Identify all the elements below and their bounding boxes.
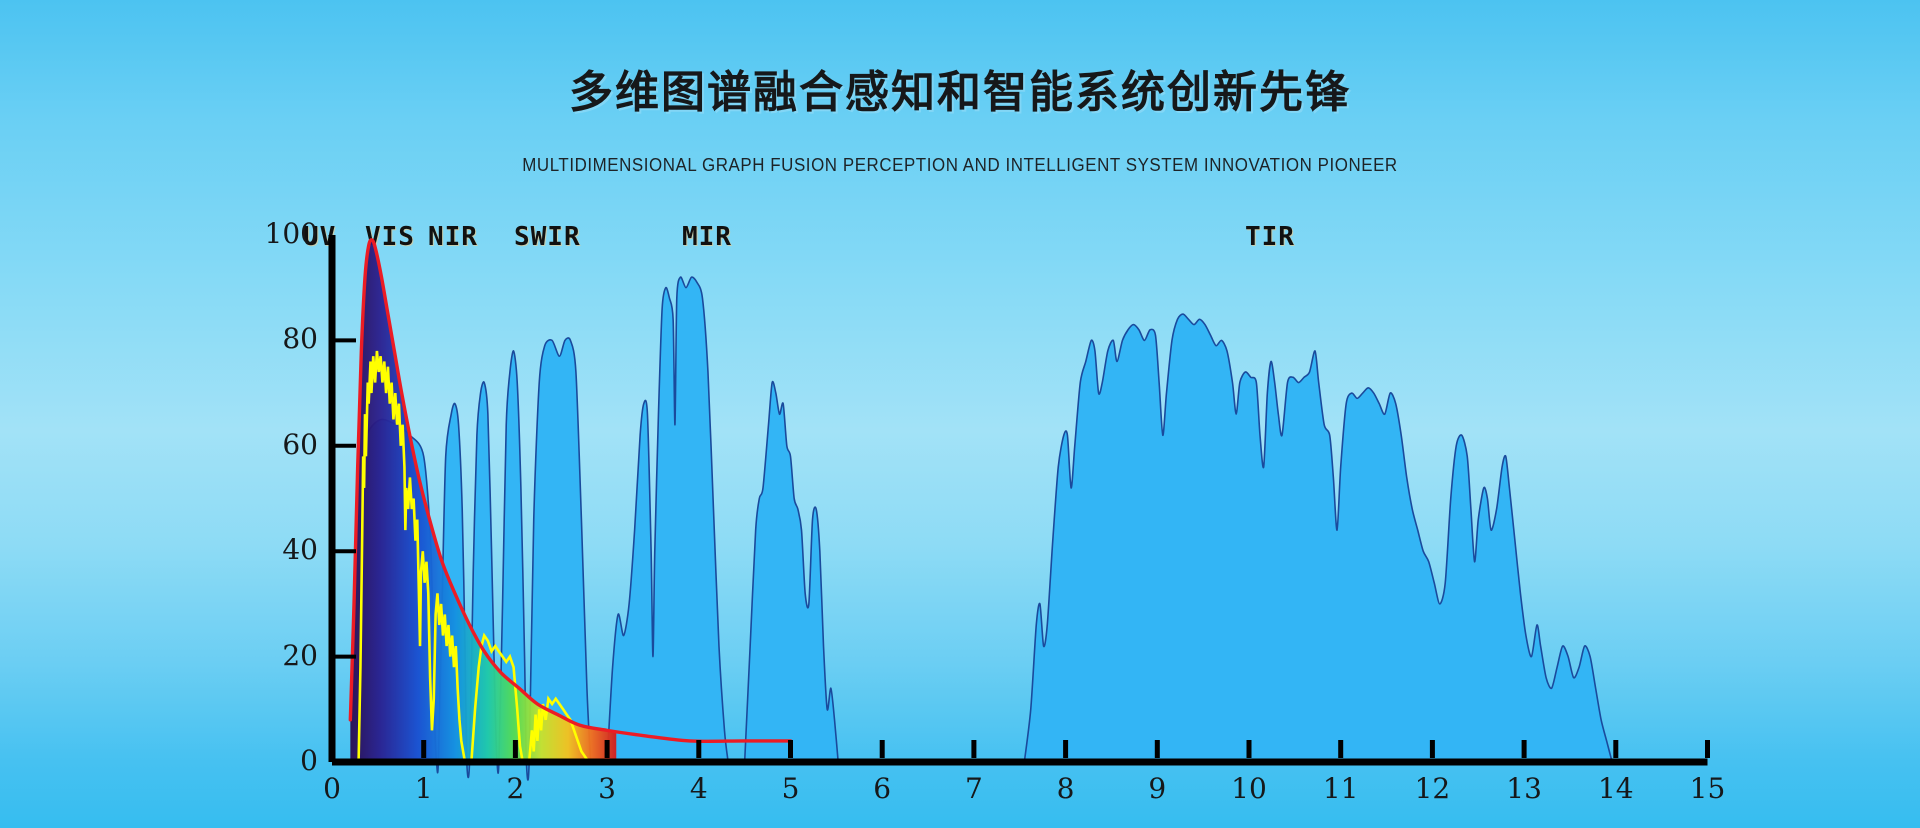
x-tick-label: 4 bbox=[669, 772, 729, 805]
x-tick-label: 9 bbox=[1127, 772, 1187, 805]
x-tick-label: 10 bbox=[1219, 772, 1279, 805]
y-tick-label: 60 bbox=[248, 428, 318, 461]
spectrum-chart bbox=[0, 0, 1920, 828]
x-tick-label: 6 bbox=[852, 772, 912, 805]
y-tick-label: 100 bbox=[248, 217, 318, 250]
y-tick-label: 80 bbox=[248, 322, 318, 355]
y-tick-label: 40 bbox=[248, 533, 318, 566]
x-tick-label: 3 bbox=[577, 772, 637, 805]
poster-canvas: 多维图谱融合感知和智能系统创新先锋 MULTIDIMENSIONAL GRAPH… bbox=[0, 0, 1920, 828]
x-tick-label: 12 bbox=[1402, 772, 1462, 805]
transmittance-window bbox=[1024, 314, 1612, 762]
x-tick-label: 0 bbox=[302, 772, 362, 805]
x-tick-label: 5 bbox=[761, 772, 821, 805]
x-tick-label: 2 bbox=[485, 772, 545, 805]
x-tick-label: 1 bbox=[394, 772, 454, 805]
transmittance-window bbox=[607, 277, 728, 762]
y-tick-label: 20 bbox=[248, 639, 318, 672]
x-tick-label: 14 bbox=[1586, 772, 1646, 805]
x-tick-label: 13 bbox=[1494, 772, 1554, 805]
x-tick-label: 7 bbox=[944, 772, 1004, 805]
transmittance-window bbox=[745, 382, 839, 762]
x-tick-label: 11 bbox=[1311, 772, 1371, 805]
x-tick-label: 8 bbox=[1036, 772, 1096, 805]
x-tick-label: 15 bbox=[1678, 772, 1738, 805]
